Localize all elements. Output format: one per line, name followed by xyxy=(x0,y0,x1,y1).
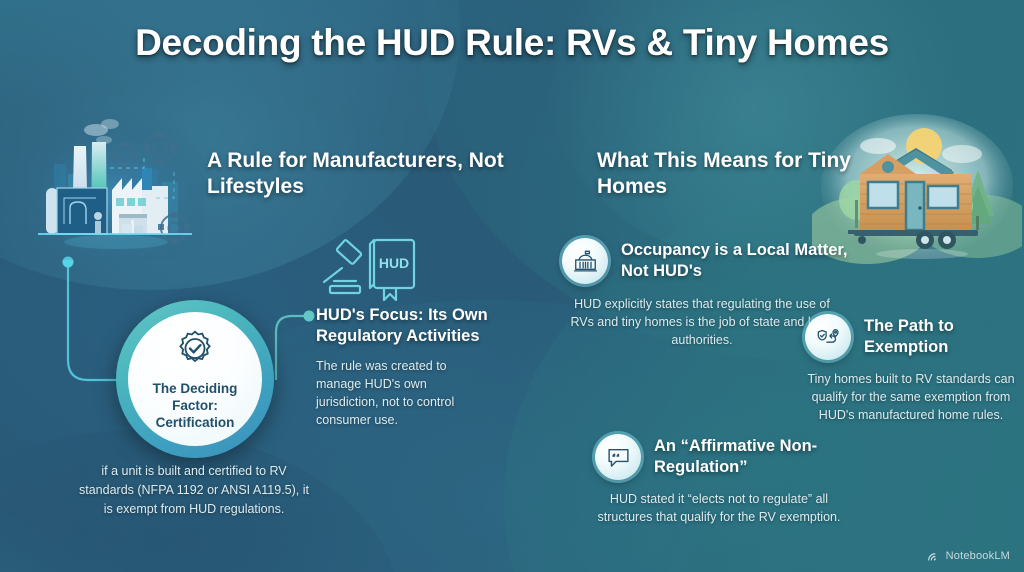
block-path-title: The Path to Exemption xyxy=(864,314,1020,358)
certification-note-text: if a unit is built and certified to RV s… xyxy=(78,462,310,518)
block-affirm-title: An “Affirmative Non-Regulation” xyxy=(654,434,845,478)
block-path-to-exemption: The Path to Exemption Tiny homes built t… xyxy=(805,314,1020,424)
page-title: Decoding the HUD Rule: RVs & Tiny Homes xyxy=(0,22,1024,64)
certification-circle: The Deciding Factor: Certification xyxy=(116,300,274,458)
infographic-canvas: Decoding the HUD Rule: RVs & Tiny Homes … xyxy=(0,0,1024,572)
block-affirmative-non-regulation: An “Affirmative Non-Regulation” HUD stat… xyxy=(595,434,845,526)
government-building-icon xyxy=(562,238,608,284)
block-hud-focus: HUD's Focus: Its Own Regulatory Activiti… xyxy=(316,305,496,429)
block-occupancy-body: HUD explicitly states that regulating th… xyxy=(562,295,842,349)
factory-manufacturing-illustration xyxy=(24,112,204,260)
notebooklm-label: NotebookLM xyxy=(946,550,1010,562)
certification-note: if a unit is built and certified to RV s… xyxy=(78,462,310,518)
block-affirm-body: HUD stated it “elects not to regulate” a… xyxy=(595,490,843,526)
gavel-hud-book-icon: HUD xyxy=(318,232,426,304)
hud-book-label: HUD xyxy=(379,255,409,271)
notebooklm-icon xyxy=(927,551,941,562)
quote-bubble-icon xyxy=(595,434,641,480)
block-hud-focus-title: HUD's Focus: Its Own Regulatory Activiti… xyxy=(316,305,496,347)
block-hud-focus-body: The rule was created to manage HUD's own… xyxy=(316,357,476,429)
certification-circle-inner: The Deciding Factor: Certification xyxy=(128,312,262,446)
shield-route-pin-icon xyxy=(805,314,851,360)
section-heading-left: A Rule for Manufacturers, Not Lifestyles xyxy=(207,148,507,201)
certification-circle-label: The Deciding Factor: Certification xyxy=(135,380,255,431)
block-occupancy-title: Occupancy is a Local Matter, Not HUD's xyxy=(621,238,862,282)
notebooklm-watermark: NotebookLM xyxy=(927,550,1010,562)
block-path-body: Tiny homes built to RV standards can qua… xyxy=(805,370,1017,424)
section-heading-right: What This Means for Tiny Homes xyxy=(597,148,877,201)
certified-seal-check-icon xyxy=(175,329,215,374)
